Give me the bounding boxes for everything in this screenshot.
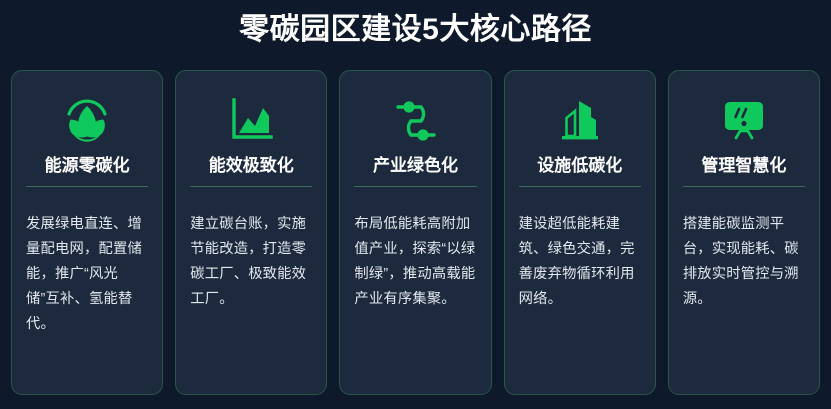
card-title: 产业绿色化 <box>373 155 458 177</box>
pathway-card-facility[interactable]: 设施低碳化 建设超低能耗建筑、绿色交通，完善废弃物循环利用网络。 <box>504 70 656 395</box>
card-divider <box>683 186 805 187</box>
card-description: 布局低能耗高附加值产业，探索“以绿制绿”，推动高载能产业有序集聚。 <box>354 212 476 312</box>
area-chart-icon <box>223 91 279 147</box>
card-divider <box>519 186 641 187</box>
pathway-card-list: 能源零碳化 发展绿电直连、增量配电网，配置储能，推广“风光储”互补、氢能替代。 … <box>11 70 820 395</box>
pathway-card-management[interactable]: 管理智慧化 搭建能碳监测平台，实现能耗、碳排放实时管控与溯源。 <box>668 70 820 395</box>
infographic-page: 零碳园区建设5大核心路径 能源零碳化 发展绿电直连、增量配电网，配置储能，推广“… <box>0 0 831 409</box>
card-divider <box>354 186 476 187</box>
page-title: 零碳园区建设5大核心路径 <box>0 8 831 52</box>
card-title: 能效极致化 <box>209 155 294 177</box>
leaf-sprout-icon <box>59 91 115 147</box>
s-curve-flow-icon <box>388 91 444 147</box>
card-title: 能源零碳化 <box>45 155 130 177</box>
card-description: 建立碳台账，实施节能改造，打造零碳工厂、极致能效工厂。 <box>190 212 312 312</box>
monitor-icon <box>716 91 772 147</box>
pathway-card-industry[interactable]: 产业绿色化 布局低能耗高附加值产业，探索“以绿制绿”，推动高载能产业有序集聚。 <box>339 70 491 395</box>
pathway-card-energy[interactable]: 能源零碳化 发展绿电直连、增量配电网，配置储能，推广“风光储”互补、氢能替代。 <box>11 70 163 395</box>
card-divider <box>26 186 148 187</box>
card-title: 设施低碳化 <box>537 155 622 177</box>
card-description: 搭建能碳监测平台，实现能耗、碳排放实时管控与溯源。 <box>683 212 805 312</box>
card-title: 管理智慧化 <box>701 155 786 177</box>
card-description: 发展绿电直连、增量配电网，配置储能，推广“风光储”互补、氢能替代。 <box>26 212 148 337</box>
pathway-card-efficiency[interactable]: 能效极致化 建立碳台账，实施节能改造，打造零碳工厂、极致能效工厂。 <box>175 70 327 395</box>
card-divider <box>190 186 312 187</box>
card-description: 建设超低能耗建筑、绿色交通，完善废弃物循环利用网络。 <box>519 212 641 312</box>
buildings-icon <box>552 91 608 147</box>
